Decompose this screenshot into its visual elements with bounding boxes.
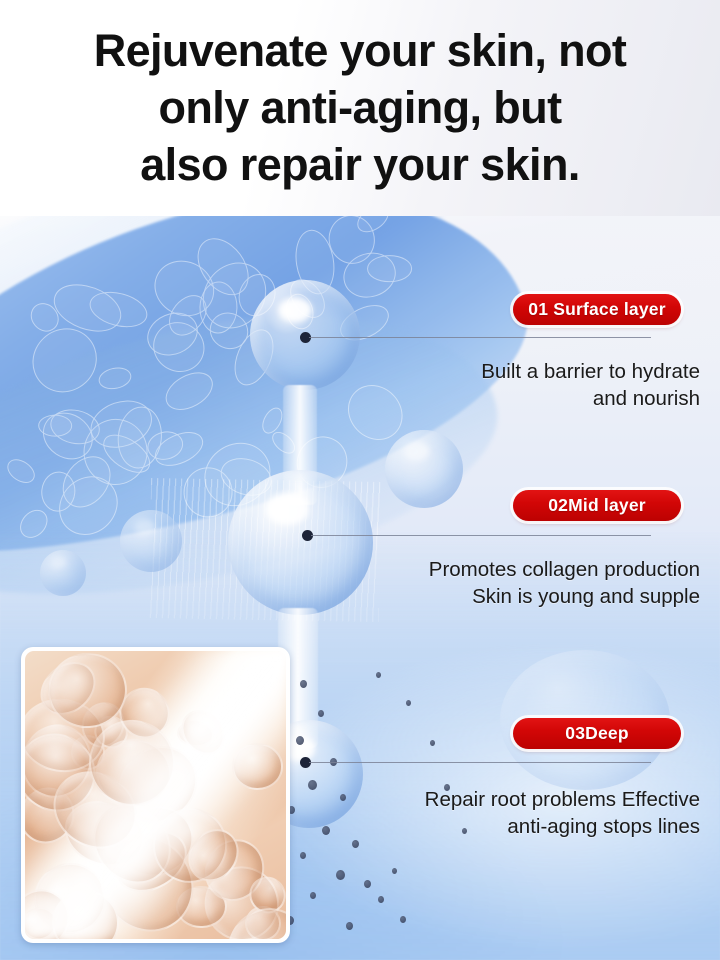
skin-texture-inset xyxy=(21,647,290,943)
page-headline: Rejuvenate your skin, notonly anti-aging… xyxy=(0,22,720,193)
speckle xyxy=(406,700,411,706)
headline-line-2: only anti-aging, but xyxy=(0,79,720,136)
header-banner: Rejuvenate your skin, notonly anti-aging… xyxy=(0,0,720,216)
speckle xyxy=(300,852,306,859)
caption-01-line-2: and nourish xyxy=(300,385,700,412)
caption-03: Repair root problems Effective anti-agin… xyxy=(285,786,700,840)
skin-texture-photo xyxy=(25,651,286,939)
badge-03-label: 03Deep xyxy=(565,723,628,744)
caption-02: Promotes collagen production Skin is you… xyxy=(290,556,700,610)
caption-03-line-1: Repair root problems Effective xyxy=(285,786,700,813)
speckle xyxy=(378,896,384,903)
badge-03-deep[interactable]: 03Deep xyxy=(513,718,681,749)
cell-shape xyxy=(0,299,3,352)
speckle xyxy=(318,710,324,717)
infographic-page: 01 Surface layer Built a barrier to hydr… xyxy=(0,0,720,960)
leader-line-3 xyxy=(309,762,651,763)
cell-shape xyxy=(97,365,133,392)
speckle xyxy=(430,740,435,746)
cell-shape xyxy=(4,455,40,488)
leader-line-2 xyxy=(311,535,651,536)
caption-02-line-2: Skin is young and supple xyxy=(290,583,700,610)
badge-01-label: 01 Surface layer xyxy=(528,299,665,320)
caption-01: Built a barrier to hydrate and nourish xyxy=(300,358,700,412)
headline-line-1: Rejuvenate your skin, not xyxy=(0,22,720,79)
speckle xyxy=(364,880,371,888)
gel-sphere-small-c xyxy=(40,550,86,596)
cell-shape xyxy=(38,414,72,437)
caption-02-line-1: Promotes collagen production xyxy=(290,556,700,583)
caption-01-line-1: Built a barrier to hydrate xyxy=(300,358,700,385)
photo-sheen xyxy=(25,651,286,939)
speckle xyxy=(392,868,397,874)
speckle xyxy=(346,922,353,930)
badge-02-label: 02Mid layer xyxy=(548,495,646,516)
speckle xyxy=(376,672,381,678)
badge-02-mid-layer[interactable]: 02Mid layer xyxy=(513,490,681,521)
speckle xyxy=(400,916,406,923)
headline-line-3: also repair your skin. xyxy=(0,136,720,193)
gel-sphere-small-b xyxy=(120,510,182,572)
speckle xyxy=(352,840,359,848)
speckle xyxy=(310,892,316,899)
cell-shape xyxy=(367,255,412,282)
gel-sphere-small-a xyxy=(385,430,463,508)
caption-03-line-2: anti-aging stops lines xyxy=(285,813,700,840)
leader-line-1 xyxy=(309,337,651,338)
speckle xyxy=(300,680,307,688)
badge-01-surface-layer[interactable]: 01 Surface layer xyxy=(513,294,681,325)
cell-shape xyxy=(159,365,219,418)
